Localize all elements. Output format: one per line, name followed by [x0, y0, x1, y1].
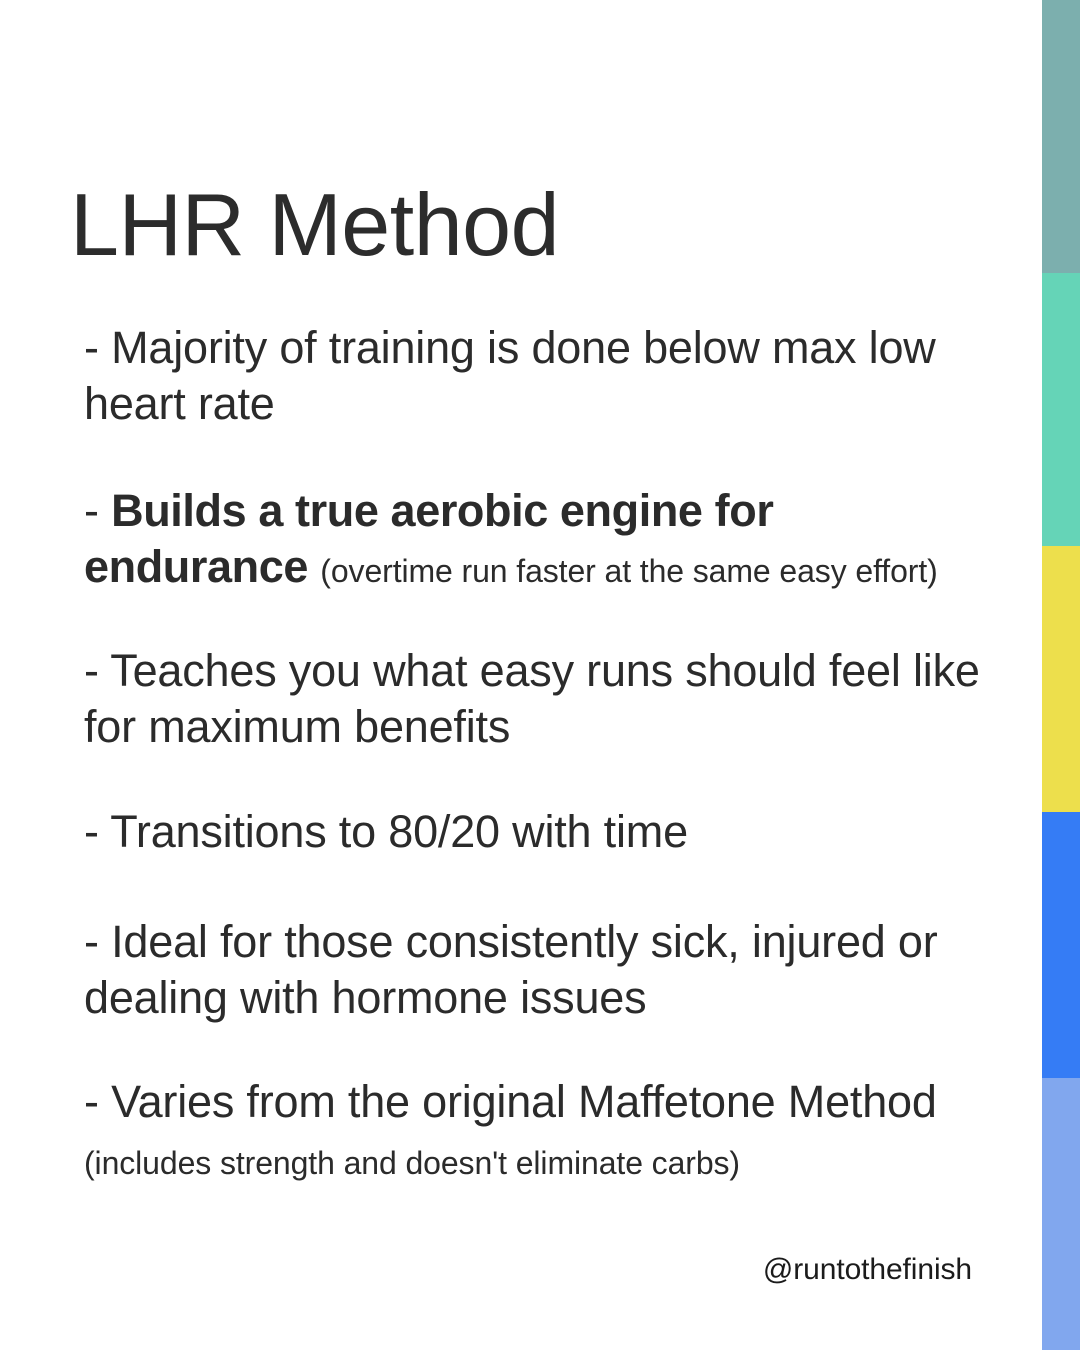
- bullet-text: Ideal for those consistently sick, injur…: [84, 916, 938, 1023]
- infographic-card: LHR Method - Majority of training is don…: [0, 0, 1080, 1350]
- bullet-item: - Teaches you what easy runs should feel…: [84, 643, 984, 756]
- bullet-item: - Majority of training is done below max…: [84, 320, 984, 433]
- bullet-text: Majority of training is done below max l…: [84, 322, 936, 429]
- bullet-item: - Ideal for those consistently sick, inj…: [84, 914, 984, 1027]
- bullet-text: Transitions to 80/20 with time: [110, 806, 688, 857]
- blue-band: [1042, 812, 1080, 1078]
- bullet-item: - Builds a true aerobic engine for endur…: [84, 483, 984, 596]
- bullet-item: - Varies from the original Maffetone Met…: [84, 1074, 984, 1187]
- author-handle: @runtothefinish: [70, 1253, 972, 1287]
- yellow-band: [1042, 546, 1080, 812]
- content-area: LHR Method - Majority of training is don…: [70, 0, 990, 1350]
- bullet-item: - Transitions to 80/20 with time: [84, 804, 984, 860]
- teal-gray-band: [1042, 0, 1080, 273]
- page-title: LHR Method: [70, 181, 559, 269]
- bullet-text: Varies from the original Maffetone Metho…: [111, 1076, 937, 1127]
- color-stripe: [1042, 0, 1080, 1350]
- bullet-marker: -: [84, 645, 99, 696]
- bullet-marker: -: [84, 806, 99, 857]
- bullet-note: (includes strength and doesn't eliminate…: [84, 1145, 740, 1181]
- bullet-marker: -: [84, 1076, 99, 1127]
- bullet-list: - Majority of training is done below max…: [84, 320, 984, 1187]
- bullet-text: Teaches you what easy runs should feel l…: [84, 645, 980, 752]
- bullet-marker: -: [84, 916, 99, 967]
- bullet-marker: -: [84, 485, 99, 536]
- mint-green-band: [1042, 273, 1080, 546]
- bullet-marker: -: [84, 322, 99, 373]
- light-blue-band: [1042, 1078, 1080, 1350]
- bullet-note: (overtime run faster at the same easy ef…: [320, 553, 937, 589]
